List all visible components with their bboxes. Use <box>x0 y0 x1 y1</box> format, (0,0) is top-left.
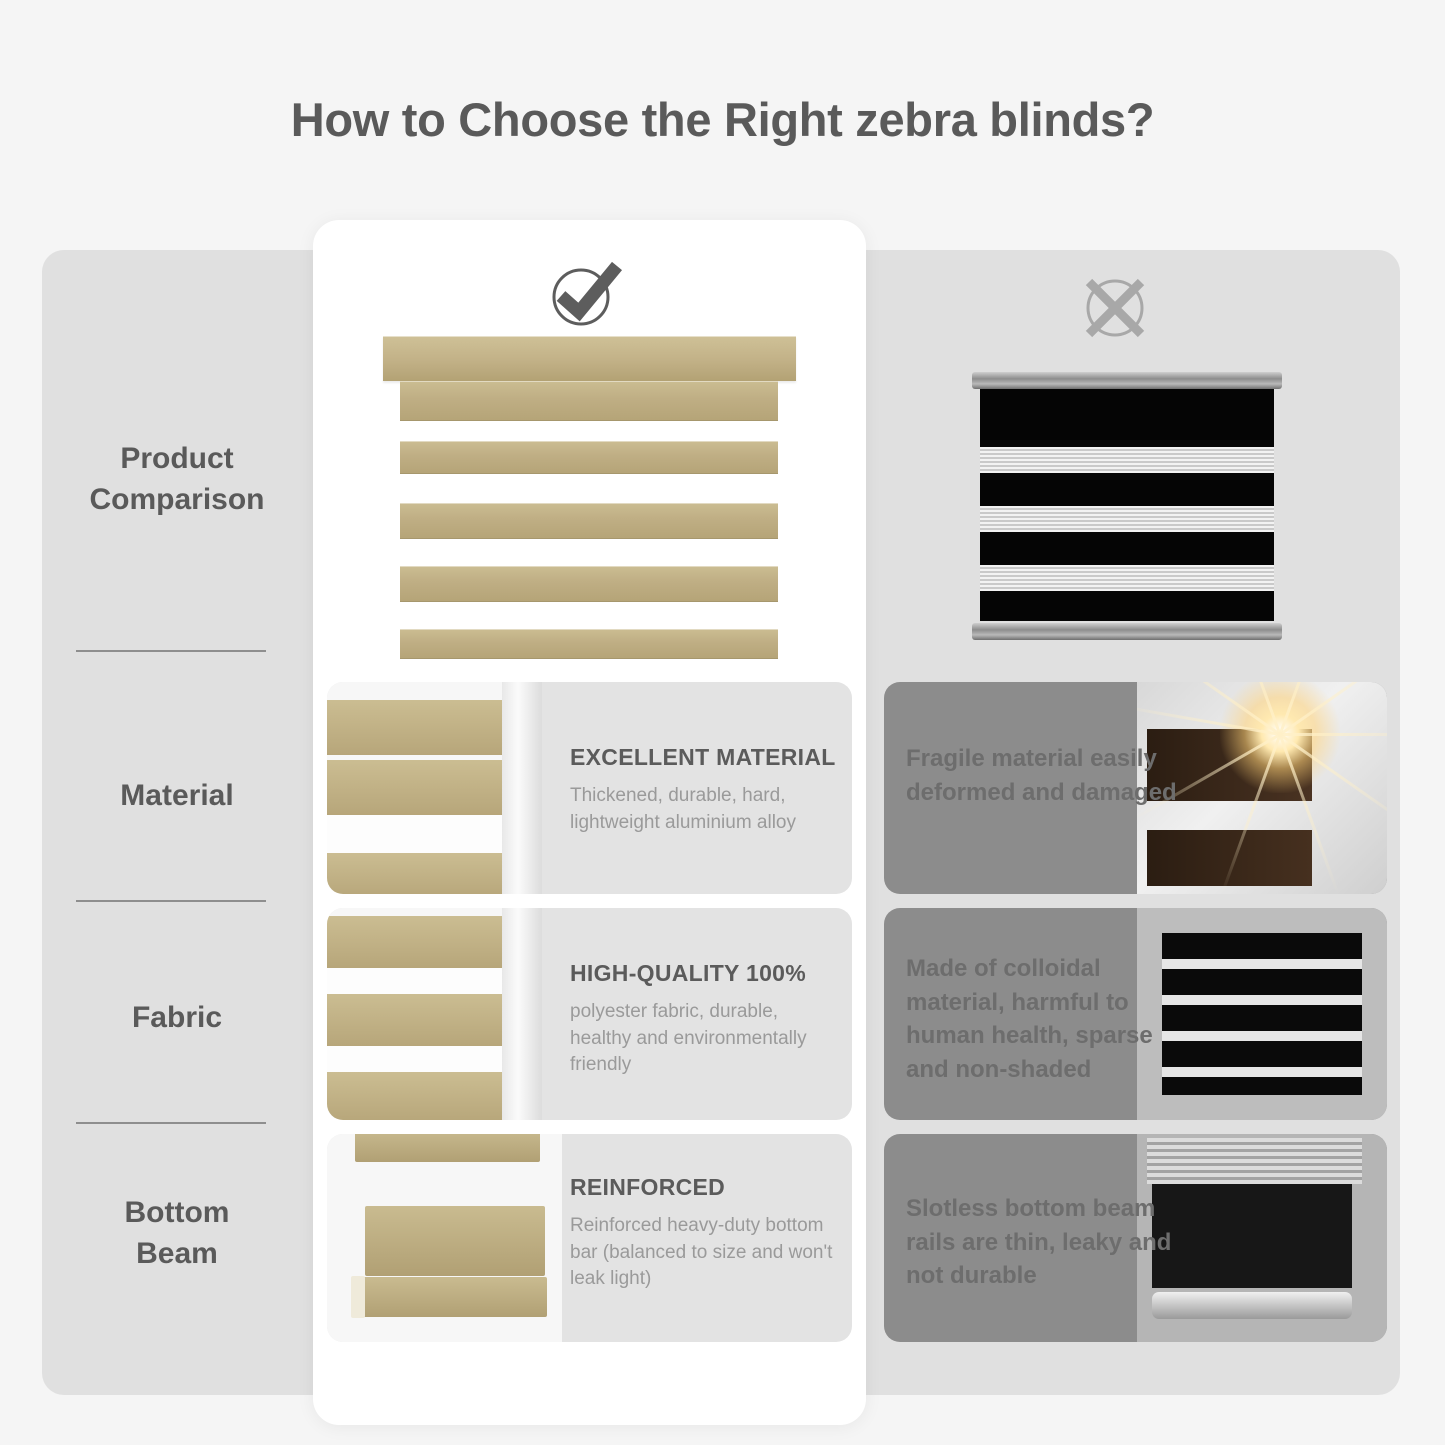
photo-beige-bottom-beam-closeup <box>327 1134 562 1342</box>
feature-card-fabric-bad: Made of colloidal material, harmful to h… <box>884 908 1387 1120</box>
sun-glare-icon <box>1220 682 1340 793</box>
blind-slat <box>400 503 778 539</box>
check-circle-icon <box>545 252 625 332</box>
sheer-stripe <box>327 1046 502 1072</box>
hero-image-black-zebra-blind <box>972 372 1282 640</box>
sheer-stripe <box>980 506 1274 532</box>
hero-image-beige-zebra-blind <box>383 336 796 666</box>
feature-description: Thickened, durable, hard, lightweight al… <box>570 783 836 836</box>
blind-slat <box>355 1134 540 1162</box>
row-divider-3 <box>76 1122 266 1124</box>
blind-slat <box>327 700 502 755</box>
blind-body <box>980 389 1274 621</box>
row-label-product-comparison: Product Comparison <box>42 438 312 520</box>
row-label-bottom-beam: Bottom Beam <box>42 1192 312 1274</box>
blind-stripes <box>1162 933 1362 1094</box>
bottom-bar-end-cap <box>351 1276 365 1318</box>
feature-card-material-good: EXCELLENT MATERIAL Thickened, durable, h… <box>327 682 852 894</box>
row-label-material: Material <box>42 775 312 816</box>
row-divider-1 <box>76 650 266 652</box>
blind-bottom-bar <box>400 629 778 659</box>
blind-slats <box>1147 1138 1362 1184</box>
blind-slat <box>327 760 502 815</box>
row-label-line2: Comparison <box>42 479 312 520</box>
row-label-line1: Bottom <box>42 1192 312 1233</box>
feature-description: Reinforced heavy-duty bottom bar (balanc… <box>570 1213 836 1293</box>
cross-circle-icon <box>1075 268 1155 348</box>
blind-slat <box>327 994 502 1046</box>
sheer-stripe <box>327 968 502 994</box>
sheer-stripe <box>980 447 1274 473</box>
window-frame-edge <box>502 908 542 1120</box>
blind-slat <box>327 1072 502 1120</box>
thin-bottom-rail <box>1152 1292 1352 1319</box>
row-label-fabric: Fabric <box>42 997 312 1038</box>
blind-slat <box>400 566 778 602</box>
photo-beige-blind-window-closeup <box>327 682 542 894</box>
row-label-column: Product Comparison Material Fabric Botto… <box>42 250 312 1395</box>
row-divider-2 <box>76 900 266 902</box>
row-label-line1: Product <box>42 438 312 479</box>
blind-bottom-rail <box>972 623 1282 640</box>
blind-headrail <box>383 336 796 381</box>
feature-card-bottom-beam-bad: Slotless bottom beam rails are thin, lea… <box>884 1134 1387 1342</box>
feature-card-fabric-good: HIGH-QUALITY 100% polyester fabric, dura… <box>327 908 852 1120</box>
feature-card-material-bad: Fragile material easily deformed and dam… <box>884 682 1387 894</box>
window-frame-edge <box>502 682 542 894</box>
feature-text: Made of colloidal material, harmful to h… <box>906 952 1191 1086</box>
row-label-line2: Beam <box>42 1233 312 1274</box>
blind-slat <box>400 441 778 474</box>
reinforced-bottom-bar <box>357 1277 547 1317</box>
photo-beige-blind-fabric-closeup <box>327 908 542 1120</box>
feature-card-bottom-beam-good: REINFORCED Reinforced heavy-duty bottom … <box>327 1134 852 1342</box>
sheer-stripe <box>327 815 502 853</box>
blind-slat <box>327 916 502 968</box>
blind-slat <box>365 1206 545 1276</box>
feature-title: REINFORCED <box>570 1174 836 1201</box>
feature-title: HIGH-QUALITY 100% <box>570 960 836 987</box>
feature-text: Fragile material easily deformed and dam… <box>906 742 1191 809</box>
blind-slat <box>327 853 502 894</box>
blind-headrail <box>972 372 1282 389</box>
feature-title: EXCELLENT MATERIAL <box>570 744 836 771</box>
feature-text: Slotless bottom beam rails are thin, lea… <box>906 1192 1191 1293</box>
page-title: How to Choose the Right zebra blinds? <box>0 92 1445 147</box>
feature-description: polyester fabric, durable, healthy and e… <box>570 999 836 1079</box>
sheer-stripe <box>980 565 1274 591</box>
blind-slat <box>400 381 778 421</box>
